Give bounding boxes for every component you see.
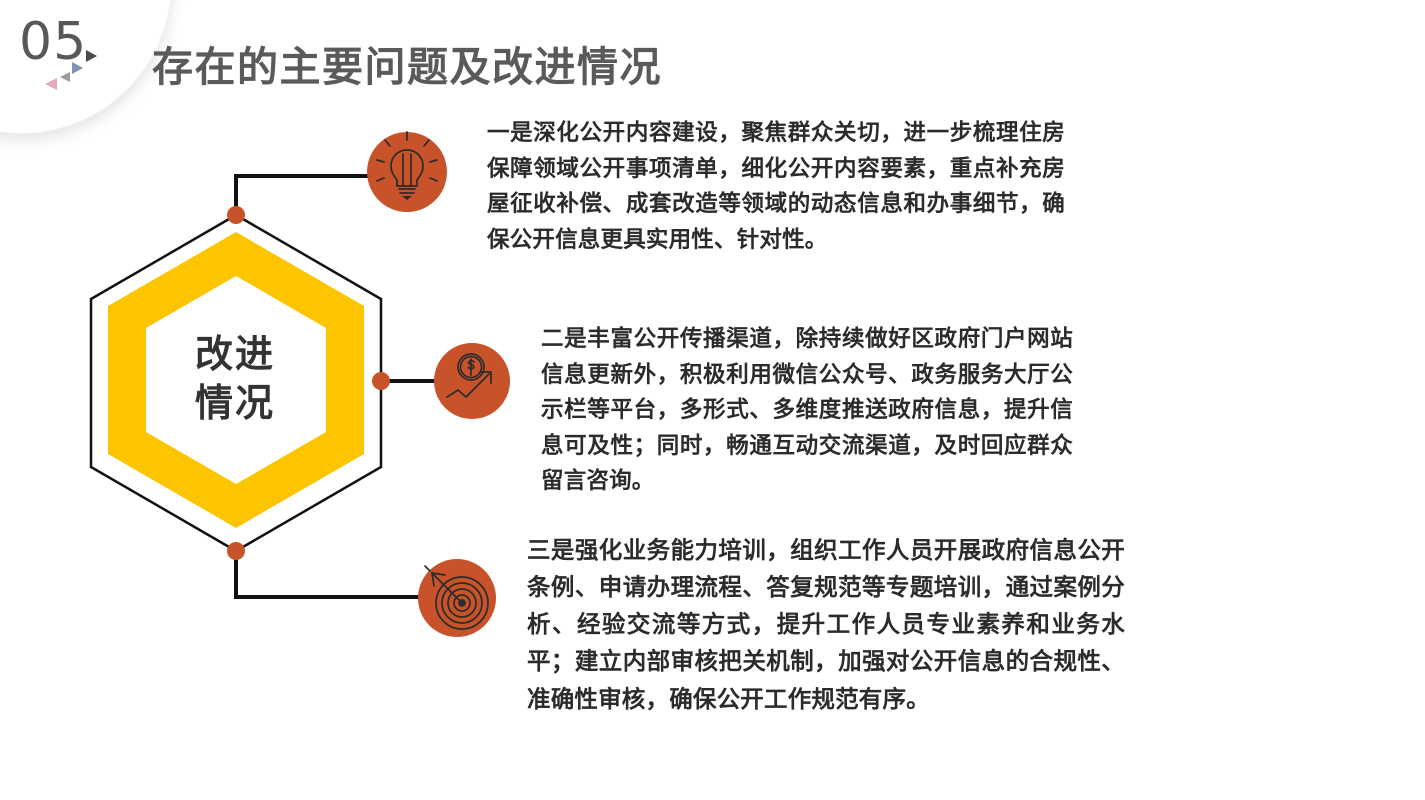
branch-text-3: 三是强化业务能力培训，组织工作人员开展政府信息公开条例、申请办理流程、答复规范等… [527,532,1125,718]
hexagon-center-label: 改进 情况 [150,330,320,427]
hexagon-label-line-1: 改进 [150,330,320,379]
slide-canvas: 05 存在的主要问题及改进情况 [0,0,1425,800]
branch-text-1: 一是深化公开内容建设，聚焦群众关切，进一步梳理住房保障领域公开事项清单，细化公开… [487,116,1065,258]
hexagon-label-line-2: 情况 [150,379,320,428]
branch-icon-2[interactable] [434,343,510,419]
vertex-dot-top [227,206,245,224]
vertex-dot-right [372,372,390,390]
vertex-dot-bottom [227,542,245,560]
branch-icon-3[interactable] [418,559,496,637]
branch-icon-1[interactable] [367,132,447,212]
branch-text-2: 二是丰富公开传播渠道，除持续做好区政府门户网站信息更新外，积极利用微信公众号、政… [541,322,1073,500]
